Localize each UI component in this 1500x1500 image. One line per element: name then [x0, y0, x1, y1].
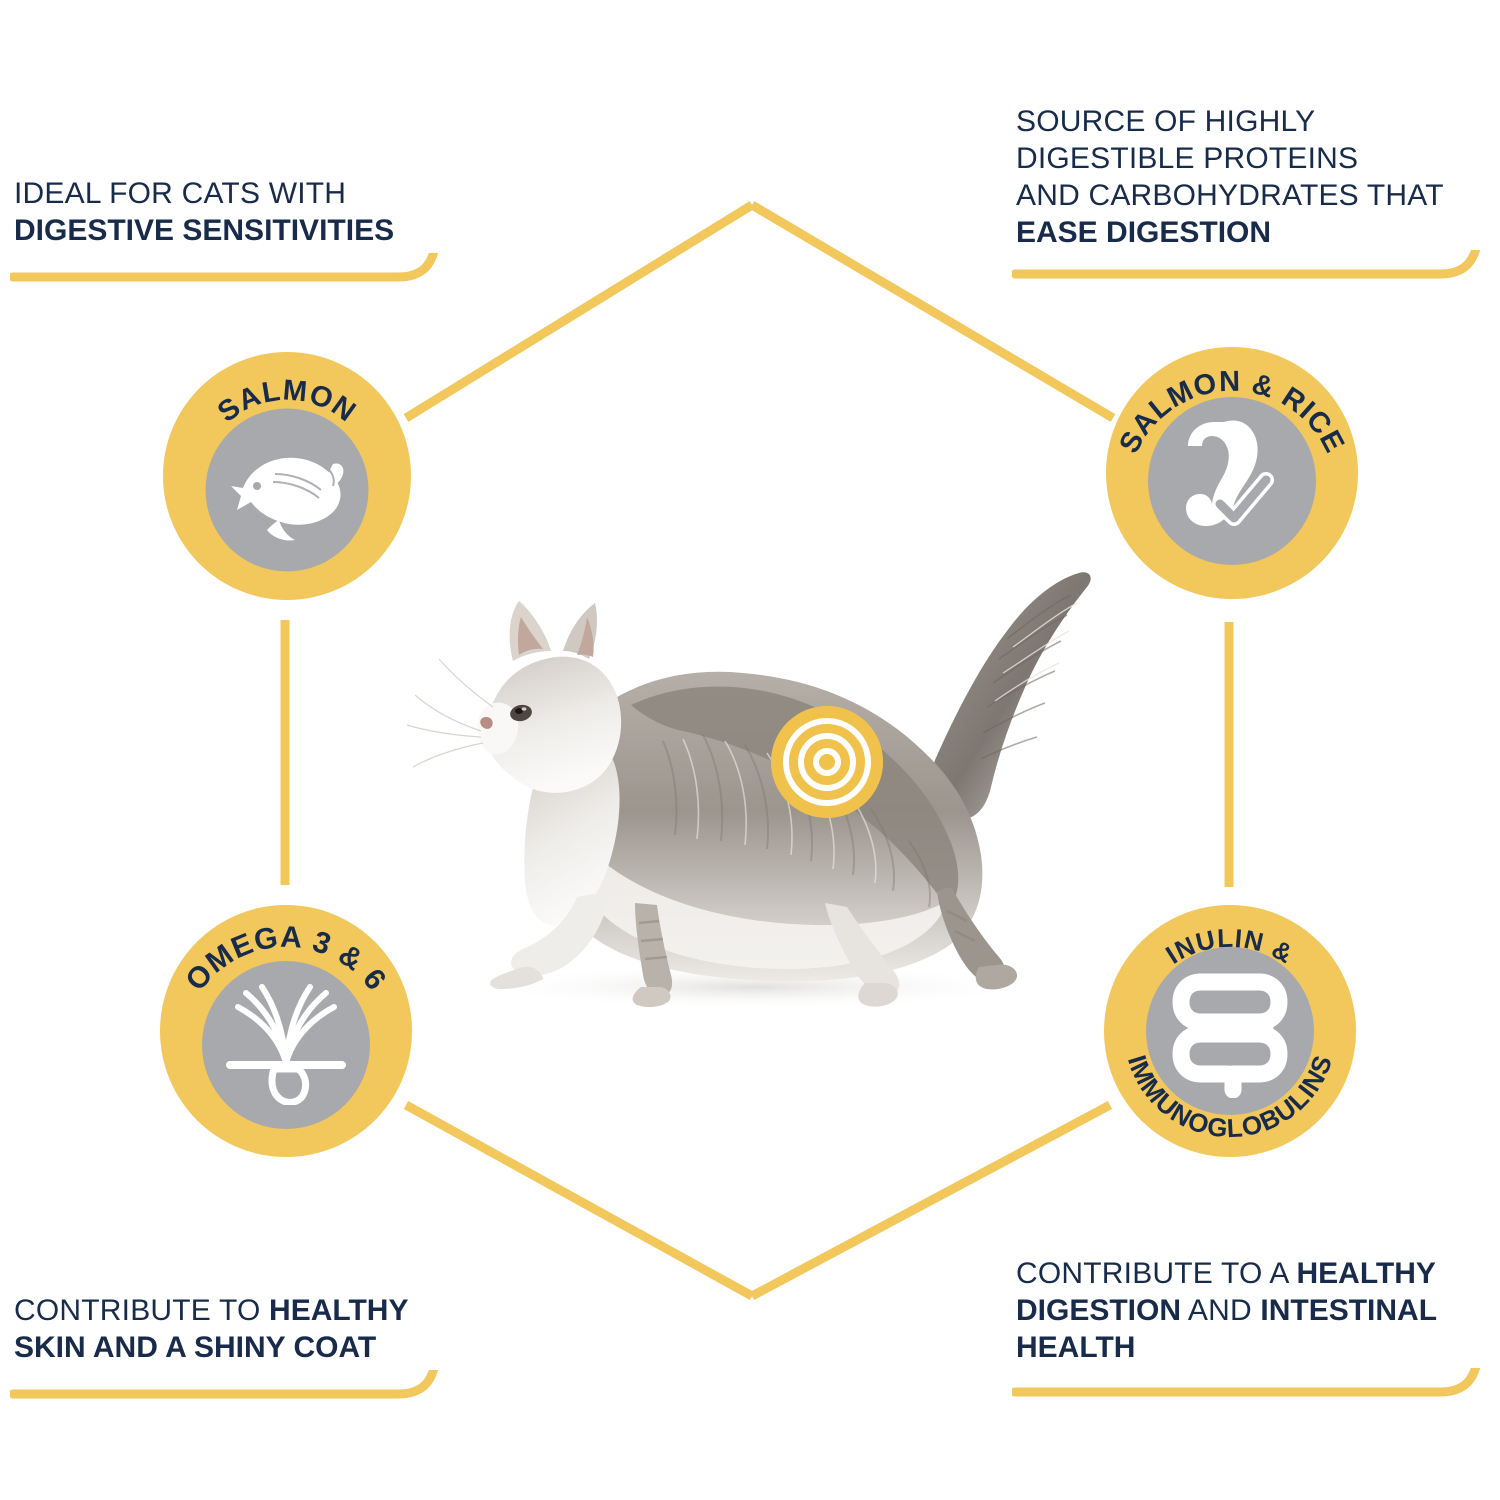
callout-line: CONTRIBUTE TO HEALTHY — [14, 1292, 409, 1329]
callout-top-right: SOURCE OF HIGHLY DIGESTIBLE PROTEINS AND… — [1016, 103, 1444, 251]
badge-salmon-label: SALMON — [212, 374, 362, 428]
callout-line: AND CARBOHYDRATES THAT — [1016, 177, 1444, 214]
callout-line: CONTRIBUTE TO A HEALTHY — [1016, 1255, 1437, 1292]
callout-top-left: IDEAL FOR CATS WITH DIGESTIVE SENSITIVIT… — [14, 175, 394, 249]
bracket-top-left — [10, 253, 450, 333]
callout-bottom-left: CONTRIBUTE TO HEALTHY SKIN AND A SHINY C… — [14, 1292, 409, 1366]
callout-line-bold: SKIN AND A SHINY COAT — [14, 1329, 409, 1366]
callout-line-bold: EASE DIGESTION — [1016, 214, 1444, 251]
callout-line-bold: DIGESTIVE SENSITIVITIES — [14, 212, 394, 249]
salmon-fish-icon — [223, 432, 351, 544]
target-rings-marker — [771, 706, 883, 818]
badge-inulin-label-top: INULIN & — [1160, 923, 1298, 970]
callout-line: SOURCE OF HIGHLY — [1016, 103, 1444, 140]
callout-line-bold: HEALTH — [1016, 1329, 1437, 1366]
intestine-icon — [1171, 968, 1289, 1098]
hair-follicle-icon — [222, 981, 350, 1105]
bracket-bottom-right — [1012, 1368, 1492, 1448]
cat-photo — [395, 555, 1115, 1015]
badge-inulin[interactable]: INULIN & IMMUNOGLOBULINS — [1104, 905, 1356, 1157]
callout-line: DIGESTIBLE PROTEINS — [1016, 140, 1444, 177]
bracket-top-right — [1012, 250, 1492, 330]
callout-line: DIGESTION AND INTESTINAL — [1016, 1292, 1437, 1329]
stomach-check-icon — [1172, 416, 1292, 542]
svg-text:INULIN &: INULIN & — [1160, 923, 1298, 970]
badge-salmon-rice[interactable]: SALMON & RICE — [1106, 347, 1358, 599]
callout-line: IDEAL FOR CATS WITH — [14, 175, 394, 212]
callout-bottom-right: CONTRIBUTE TO A HEALTHY DIGESTION AND IN… — [1016, 1255, 1437, 1366]
bracket-bottom-left — [10, 1370, 450, 1450]
badge-omega[interactable]: OMEGA 3 & 6 — [160, 905, 412, 1157]
svg-text:SALMON: SALMON — [212, 374, 362, 428]
badge-salmon[interactable]: SALMON — [163, 352, 411, 600]
